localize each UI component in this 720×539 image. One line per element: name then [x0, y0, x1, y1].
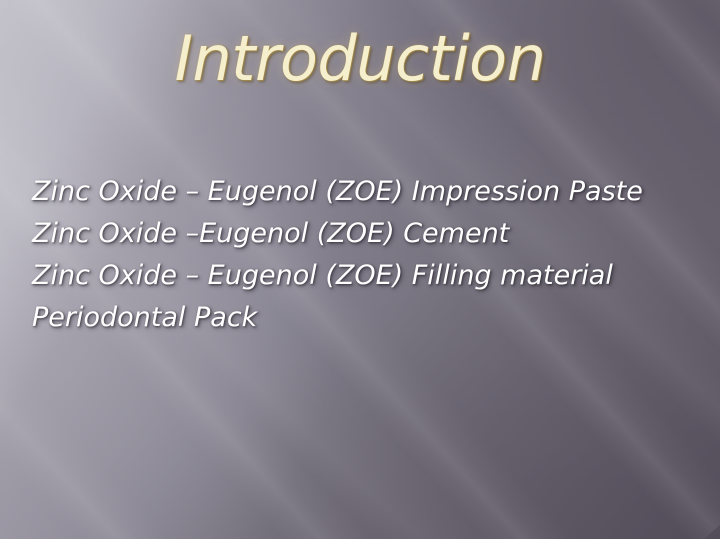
- body-line-2: Zinc Oxide –Eugenol (ZOE) Cement: [32, 213, 700, 255]
- body-line-4: Periodontal Pack: [32, 297, 700, 339]
- slide-body-text: Zinc Oxide – Eugenol (ZOE) Impression Pa…: [32, 171, 700, 339]
- body-line-3: Zinc Oxide – Eugenol (ZOE) Filling mater…: [32, 255, 700, 297]
- body-line-1: Zinc Oxide – Eugenol (ZOE) Impression Pa…: [32, 171, 700, 213]
- slide-title: Introduction: [0, 26, 720, 91]
- presentation-slide: Introduction Zinc Oxide – Eugenol (ZOE) …: [0, 0, 720, 539]
